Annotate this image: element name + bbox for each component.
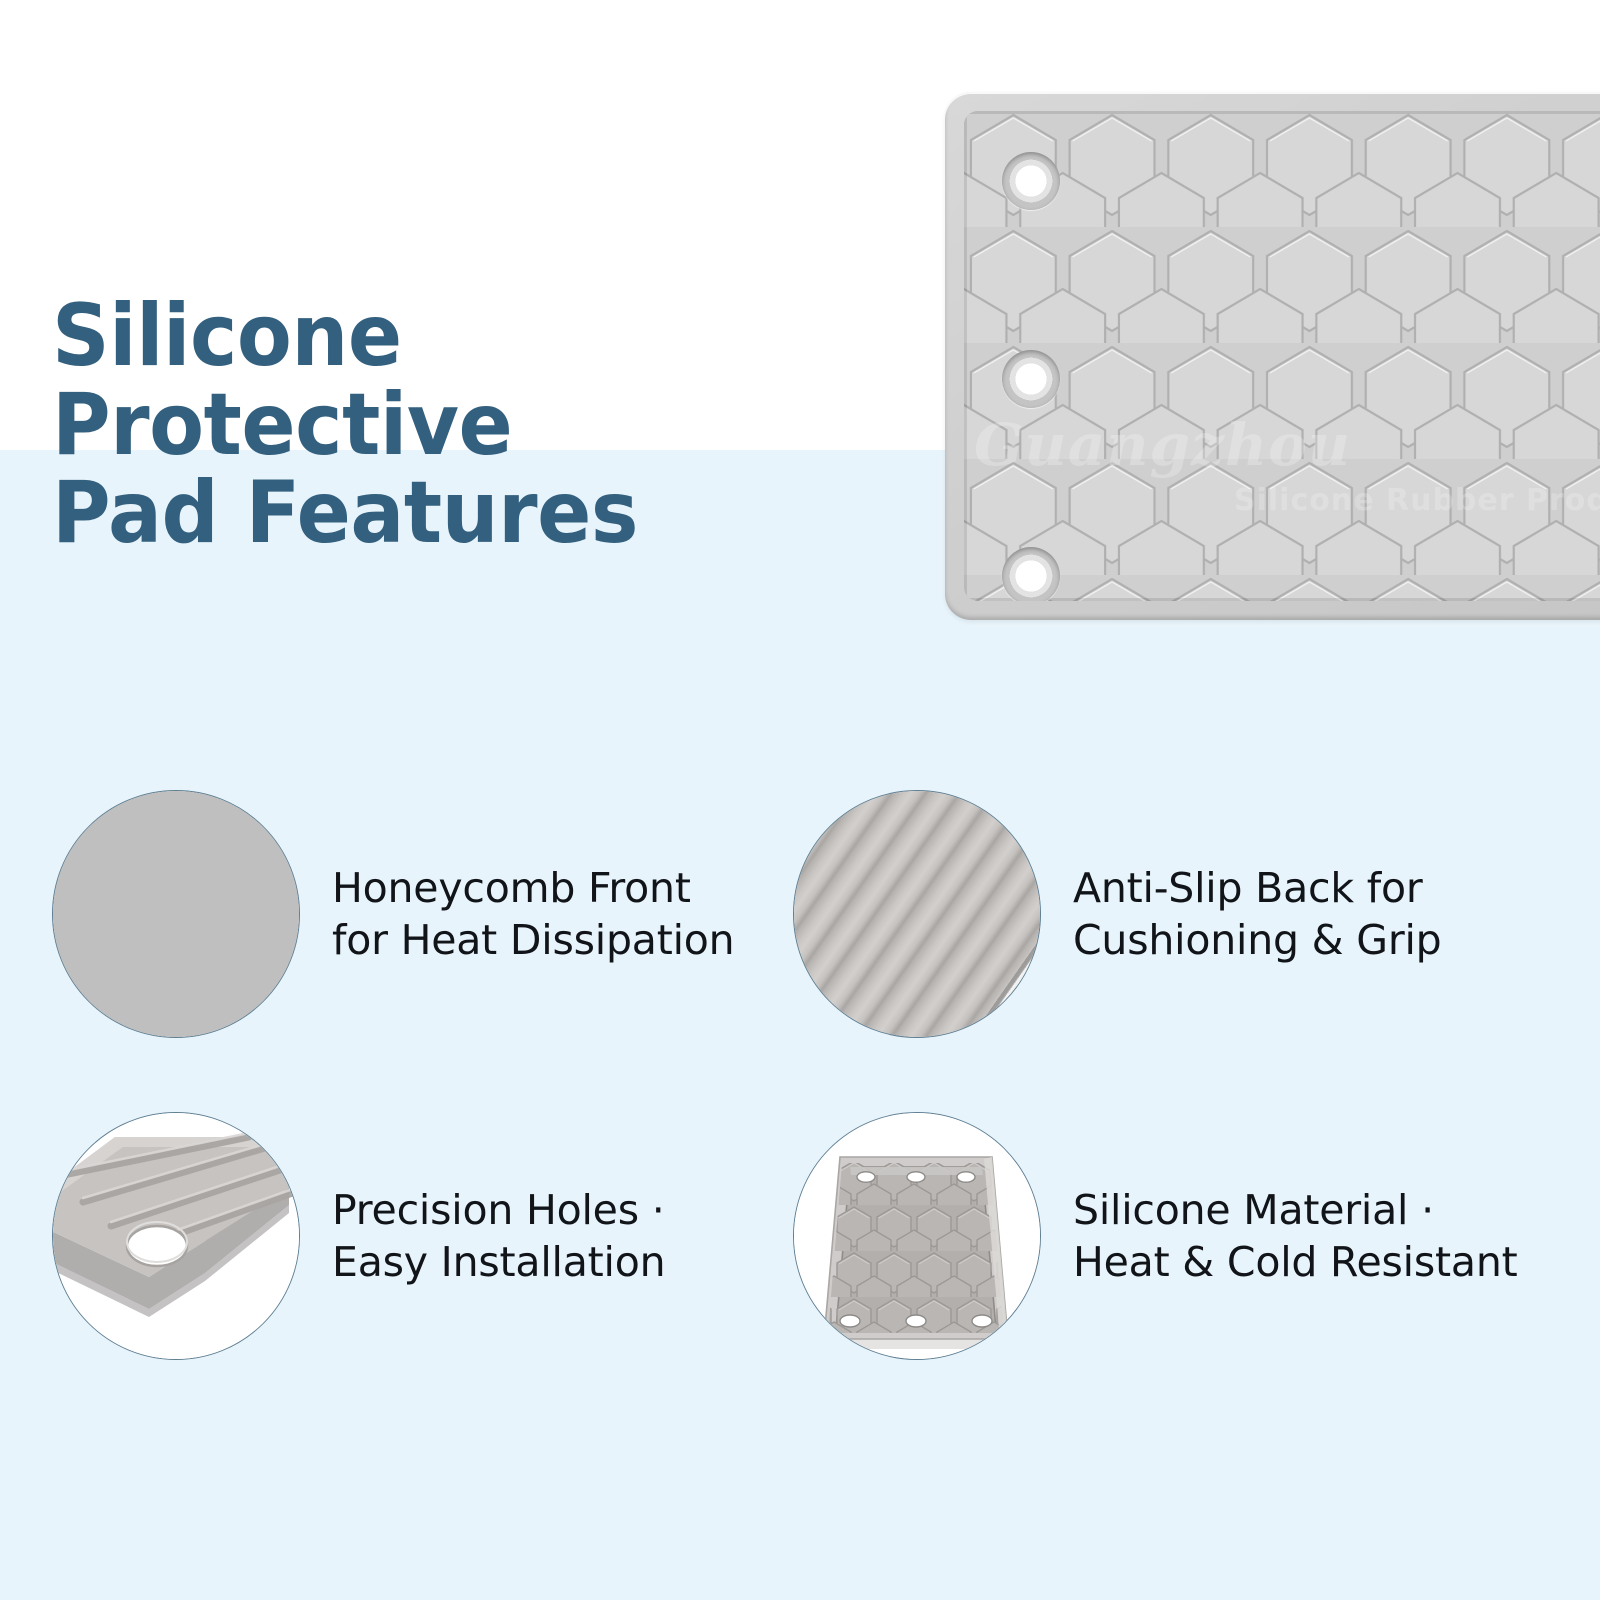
pad-perspective-icon (793, 1112, 1041, 1360)
infographic-canvas: Silicone Protective Pad Features (0, 0, 1600, 1600)
pad-edge-line (793, 790, 1041, 1038)
feature-item-honeycomb-front[interactable]: Honeycomb Front for Heat Dissipation (52, 790, 734, 1038)
feature-label-anti-slip-back: Anti-Slip Back for Cushioning & Grip (1073, 862, 1442, 967)
pad-perspective-svg (794, 1113, 1041, 1360)
feature-label-honeycomb-front: Honeycomb Front for Heat Dissipation (332, 862, 734, 967)
feature-list: Honeycomb Front for Heat Dissipation Ant… (0, 0, 1600, 1600)
feature-item-precision-holes[interactable]: Precision Holes · Easy Installation (52, 1112, 665, 1360)
feature-item-anti-slip-back[interactable]: Anti-Slip Back for Cushioning & Grip (793, 790, 1442, 1038)
feature-label-precision-holes: Precision Holes · Easy Installation (332, 1184, 665, 1289)
feature-label-silicone-material: Silicone Material · Heat & Cold Resistan… (1073, 1184, 1518, 1289)
pad-corner-3d-svg (53, 1113, 300, 1360)
pad-corner-hole-icon (52, 1112, 300, 1360)
diagonal-ribs-icon (793, 790, 1041, 1038)
honeycomb-pattern-icon (52, 790, 300, 1038)
feature-item-silicone-material[interactable]: Silicone Material · Heat & Cold Resistan… (793, 1112, 1518, 1360)
